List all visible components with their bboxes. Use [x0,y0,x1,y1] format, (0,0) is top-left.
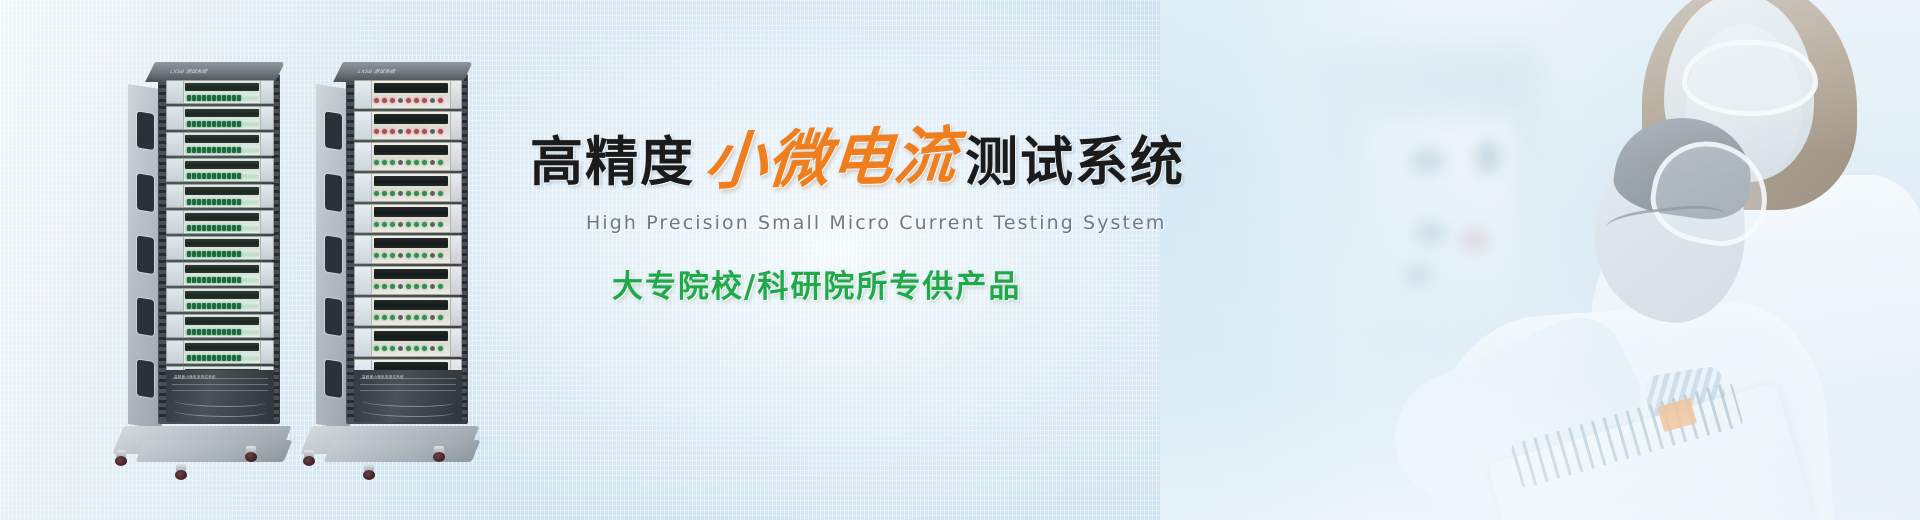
unit-lcd-display [374,207,448,217]
unit-control-knob [167,263,184,285]
channel-led-icon [212,147,216,153]
unit-display [185,187,259,195]
rack-unit [166,184,274,208]
channel-led-icon [207,199,211,205]
channel-led-icon [222,147,226,153]
channel-led-icon [232,173,236,179]
unit-connector [450,112,461,139]
rack-mounting-rail [347,78,354,420]
unit-button-icon [438,284,443,289]
unit-button-icon [422,160,427,165]
unit-button-icon [390,315,395,320]
channel-led-icon [202,147,206,153]
cable-run [174,406,266,417]
unit-button-icon [422,284,427,289]
unit-button-row [374,219,448,230]
unit-button-icon [422,315,427,320]
channel-led-icon [237,277,241,283]
unit-button-icon [406,253,411,258]
unit-button-icon [374,284,379,289]
channel-led-icon [197,251,201,257]
channel-led-icon [237,251,241,257]
channel-led-icon [232,303,236,309]
channel-led-icon [217,225,221,231]
channel-led-icon [232,355,236,361]
channel-led-icon [192,251,196,257]
channel-led-icon [212,121,216,127]
unit-connector [260,81,273,103]
unit-lcd-display [374,238,448,248]
channel-led-icon [207,303,211,309]
unit-lcd-display [374,269,448,279]
channel-led-icon [197,303,201,309]
channel-led-icon [232,95,236,101]
channel-led-icon [232,225,236,231]
channel-led-icon [207,225,211,231]
channel-led-icon [222,303,226,309]
rack-unit [166,262,274,286]
unit-display [185,317,259,325]
rack-base [300,420,486,478]
unit-channel-row [185,120,259,128]
unit-button-icon [398,346,403,351]
channel-led-icon [232,199,236,205]
caster-wheel [244,446,258,462]
unit-connector [260,315,273,337]
channel-led-icon [207,277,211,283]
unit-connector [260,341,273,363]
product-banner: LXSB 测试系统 高精度小微电流测试系统 [0,0,1920,520]
rack-unit [166,106,274,130]
unit-button-icon [430,284,435,289]
cable-run [362,406,454,417]
channel-led-icon [227,121,231,127]
unit-channel-row [185,302,259,310]
rack-unit [354,204,462,233]
unit-button-icon [422,253,427,258]
rack-unit [354,142,462,171]
channel-led-icon [222,251,226,257]
channel-led-icon [227,173,231,179]
channel-led-icon [197,225,201,231]
channel-led-icon [237,225,241,231]
rack-mounting-rail [159,78,166,420]
unit-button-icon [390,160,395,165]
rack-side-panel [128,84,162,429]
unit-control-knob [167,315,184,337]
unit-button-icon [374,160,379,165]
rack-unit [166,80,274,104]
channel-led-icon [192,355,196,361]
unit-button-icon [398,284,403,289]
rack-vent-slot [325,297,342,336]
channel-led-icon [227,147,231,153]
headline-trail: 测试系统 [965,136,1185,189]
unit-button-icon [374,129,379,134]
rack-vent-slot [325,111,342,150]
channel-led-icon [202,329,206,335]
vent-line [172,390,268,391]
unit-button-icon [430,160,435,165]
rack-brand-plate: LXSB 测试系统 [168,68,209,75]
channel-led-icon [237,95,241,101]
caster-wheel [174,464,188,480]
unit-button-icon [390,191,395,196]
unit-button-icon [438,98,443,103]
channel-led-icon [217,277,221,283]
channel-led-icon [187,251,191,257]
channel-led-icon [222,173,226,179]
unit-button-icon [438,315,443,320]
unit-channel-row [185,328,259,336]
base-foot [136,440,293,462]
channel-led-icon [192,121,196,127]
unit-button-icon [390,129,395,134]
unit-control-knob [355,143,372,170]
channel-led-icon [227,199,231,205]
unit-button-icon [398,98,403,103]
channel-led-icon [197,199,201,205]
unit-button-row [374,126,448,137]
unit-button-icon [406,191,411,196]
unit-button-icon [414,253,419,258]
channel-led-icon [202,225,206,231]
channel-led-icon [232,147,236,153]
channel-led-icon [187,199,191,205]
unit-display [185,161,259,169]
unit-button-icon [382,346,387,351]
rack-vent-slot [325,173,342,212]
channel-led-icon [227,225,231,231]
unit-display [185,213,259,221]
unit-button-icon [382,98,387,103]
unit-button-icon [430,315,435,320]
channel-led-icon [212,277,216,283]
unit-connector [260,107,273,129]
unit-lcd-display [374,176,448,186]
channel-led-icon [192,173,196,179]
unit-button-row [374,188,448,199]
channel-led-icon [237,355,241,361]
unit-channel-row [185,172,259,180]
unit-control-knob [355,267,372,294]
unit-button-icon [374,346,379,351]
channel-led-icon [227,277,231,283]
channel-led-icon [202,95,206,101]
unit-button-icon [438,160,443,165]
caster-wheel [302,450,316,466]
channel-led-icon [202,355,206,361]
unit-connector [450,81,461,108]
unit-button-icon [398,253,403,258]
unit-button-icon [414,191,419,196]
channel-led-icon [202,199,206,205]
unit-channel-row [185,224,259,232]
channel-led-icon [207,355,211,361]
unit-connector [450,267,461,294]
channel-led-icon [237,147,241,153]
unit-channel-row [185,94,259,102]
headline-highlight: 小微电流 [702,125,960,194]
channel-led-icon [192,95,196,101]
channel-led-icon [212,225,216,231]
unit-control-knob [355,81,372,108]
unit-control-knob [355,236,372,263]
rack-vent-slot [325,235,342,274]
unit-button-icon [382,222,387,227]
channel-led-icon [222,355,226,361]
unit-button-icon [430,191,435,196]
unit-button-icon [406,315,411,320]
channel-led-icon [222,277,226,283]
unit-button-icon [398,160,403,165]
channel-led-icon [237,121,241,127]
unit-button-icon [382,191,387,196]
channel-led-icon [212,303,216,309]
unit-connector [260,159,273,181]
channel-led-icon [192,277,196,283]
unit-button-icon [438,346,443,351]
unit-button-icon [374,315,379,320]
unit-connector [260,237,273,259]
channel-led-icon [192,147,196,153]
channel-led-icon [187,225,191,231]
channel-led-icon [187,303,191,309]
channel-led-icon [237,303,241,309]
channel-led-icon [212,199,216,205]
unit-connector [260,289,273,311]
channel-led-icon [217,251,221,257]
unit-button-icon [422,191,427,196]
unit-connector [450,205,461,232]
channel-led-icon [212,173,216,179]
channel-led-icon [197,173,201,179]
unit-button-row [374,95,448,106]
instrument-rack-right: LXSB 测试系统 高精度小微电流测试系统 [316,74,468,424]
rack-unit [354,266,462,295]
channel-led-icon [222,121,226,127]
unit-display [185,83,259,91]
channel-led-icon [187,277,191,283]
vent-line [172,384,268,385]
unit-connector [260,133,273,155]
channel-led-icon [222,329,226,335]
unit-control-knob [167,185,184,207]
channel-led-icon [197,121,201,127]
unit-button-icon [374,222,379,227]
caster-wheel [114,450,128,466]
rack-vent-slot [137,359,154,398]
channel-led-icon [232,329,236,335]
unit-button-icon [414,160,419,165]
channel-led-icon [187,329,191,335]
channel-led-icon [232,277,236,283]
channel-led-icon [212,95,216,101]
rack-base-label: 高精度小微电流测试系统 [362,375,404,380]
channel-led-icon [217,303,221,309]
unit-lcd-display [374,145,448,155]
channel-led-icon [217,199,221,205]
channel-led-icon [227,355,231,361]
unit-button-row [374,250,448,261]
unit-display [185,109,259,117]
unit-button-icon [406,129,411,134]
channel-led-icon [237,173,241,179]
unit-button-icon [414,98,419,103]
unit-connector [260,263,273,285]
channel-led-icon [187,355,191,361]
channel-led-icon [227,251,231,257]
channel-led-icon [187,95,191,101]
unit-button-icon [438,253,443,258]
rack-unit [166,132,274,156]
unit-display [185,265,259,273]
rack-top-cap [145,62,285,82]
unit-channel-row [185,250,259,258]
channel-led-icon [197,329,201,335]
vent-line [360,384,456,385]
unit-channel-row [185,276,259,284]
unit-button-icon [374,191,379,196]
unit-button-icon [414,129,419,134]
unit-control-knob [355,329,372,356]
unit-button-icon [382,129,387,134]
unit-control-knob [167,81,184,103]
rack-unit [166,210,274,234]
unit-control-knob [167,237,184,259]
rack-base [112,420,298,478]
unit-button-icon [398,129,403,134]
channel-led-icon [227,329,231,335]
unit-button-icon [382,160,387,165]
channel-led-icon [222,225,226,231]
channel-led-icon [237,199,241,205]
unit-button-row [374,157,448,168]
rack-unit [354,297,462,326]
unit-button-icon [382,253,387,258]
channel-led-icon [192,303,196,309]
channel-led-icon [217,355,221,361]
unit-control-knob [355,174,372,201]
unit-button-icon [430,222,435,227]
unit-button-row [374,281,448,292]
channel-led-icon [197,147,201,153]
channel-led-icon [217,147,221,153]
rack-unit [354,111,462,140]
unit-button-icon [438,129,443,134]
unit-button-icon [430,129,435,134]
channel-led-icon [207,121,211,127]
unit-button-icon [430,98,435,103]
unit-button-row [374,343,448,354]
channel-led-icon [207,173,211,179]
unit-display [185,343,259,351]
unit-lcd-display [374,331,448,341]
unit-channel-row [185,198,259,206]
unit-button-icon [406,160,411,165]
rack-base-label: 高精度小微电流测试系统 [174,375,216,380]
unit-button-icon [390,346,395,351]
channel-led-icon [217,95,221,101]
channel-led-icon [192,329,196,335]
rack-unit [166,288,274,312]
unit-connector [450,298,461,325]
rack-unit [166,236,274,260]
channel-led-icon [237,329,241,335]
unit-control-knob [167,341,184,363]
unit-control-knob [167,211,184,233]
rack-unit [354,235,462,264]
headline-lead: 高精度 [530,136,695,189]
channel-led-icon [217,121,221,127]
unit-control-knob [355,205,372,232]
unit-button-icon [406,222,411,227]
channel-led-icon [202,277,206,283]
unit-button-icon [406,98,411,103]
unit-button-icon [438,191,443,196]
unit-button-icon [414,346,419,351]
unit-button-icon [414,284,419,289]
unit-lcd-display [374,83,448,93]
unit-connector [450,174,461,201]
rack-unit [354,80,462,109]
unit-display [185,239,259,247]
unit-button-row [374,312,448,323]
banner-headline: 高精度 小微电流 测试系统 [530,128,1290,190]
unit-lcd-display [374,114,448,124]
unit-display [185,135,259,143]
unit-button-icon [422,98,427,103]
unit-button-icon [430,346,435,351]
unit-control-knob [167,289,184,311]
channel-led-icon [232,121,236,127]
unit-channel-row [185,146,259,154]
unit-button-icon [406,284,411,289]
channel-led-icon [212,355,216,361]
rack-vent-slot [137,235,154,274]
unit-button-icon [398,191,403,196]
unit-button-icon [374,98,379,103]
unit-connector [450,236,461,263]
rack-unit [166,340,274,364]
rack-unit [354,328,462,357]
channel-led-icon [207,147,211,153]
channel-led-icon [232,251,236,257]
vent-line [360,390,456,391]
unit-button-icon [382,315,387,320]
caster-wheel [432,446,446,462]
channel-led-icon [197,277,201,283]
channel-led-icon [227,303,231,309]
channel-led-icon [202,251,206,257]
unit-button-icon [422,129,427,134]
channel-led-icon [202,303,206,309]
channel-led-icon [212,251,216,257]
banner-tagline: 大专院校/科研院所专供产品 [612,261,1290,306]
rack-unit [354,173,462,202]
unit-lcd-display [374,300,448,310]
channel-led-icon [207,95,211,101]
rack-unit-list [166,80,274,416]
instrument-rack-left: LXSB 测试系统 高精度小微电流测试系统 [128,74,280,424]
unit-button-icon [390,222,395,227]
rack-side-panel [316,84,350,429]
channel-led-icon [207,329,211,335]
unit-control-knob [167,159,184,181]
unit-channel-row [185,354,259,362]
banner-subtitle-english: High Precision Small Micro Current Testi… [586,212,1290,234]
rack-vent-slot [325,359,342,398]
